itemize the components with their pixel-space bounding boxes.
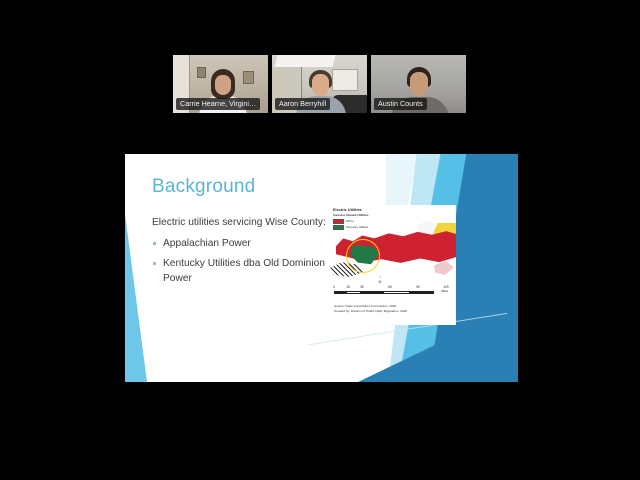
map-highlight-circle-icon — [346, 239, 380, 273]
shared-presentation-slide: Background Electric utilities servicing … — [125, 154, 518, 382]
slide-title: Background — [152, 176, 255, 198]
slide-bullet-label: Appalachian Power — [163, 238, 251, 249]
north-arrow-icon: ↑N — [376, 274, 384, 285]
scale-tick: 15 — [346, 285, 350, 289]
participant-name-label: Aaron Berryhill — [275, 98, 330, 111]
participant-name-label: Carrie Hearne, Virgini… — [176, 98, 260, 111]
bullet-marker-icon — [153, 242, 156, 245]
map-source-line: Source: State Corporation Commission, 20… — [334, 304, 407, 309]
map-legend-subtitle: Investor-Owned Utilities — [333, 213, 385, 218]
scale-tick: 90 — [416, 285, 420, 289]
participant-video-strip: Carrie Hearne, Virgini… Aaron Berryhill — [173, 55, 466, 113]
screen-recording-frame: Carrie Hearne, Virgini… Aaron Berryhill — [0, 0, 640, 480]
bullet-marker-icon — [153, 262, 156, 265]
utility-territory-map: Electric Utilities Investor-Owned Utilit… — [328, 205, 456, 325]
scale-tick: 30 — [360, 285, 364, 289]
scale-unit-label: Miles — [441, 289, 448, 293]
participant-tile[interactable]: Carrie Hearne, Virgini… — [173, 55, 268, 113]
scale-tick: 60 — [388, 285, 392, 289]
slide-intro-line: Electric utilities servicing Wise County… — [152, 216, 337, 230]
scale-bar-graphic — [334, 291, 434, 294]
slide-bullet-item: Kentucky Utilities dba Old Dominion Powe… — [152, 257, 337, 285]
participant-tile[interactable]: Aaron Berryhill — [272, 55, 367, 113]
slide-decoration-left-wedge — [125, 214, 147, 382]
map-source-line: Created by: Division of Public Utility R… — [334, 309, 407, 314]
map-scale-bar: ↑N 0 15 30 60 90 120 Miles — [334, 285, 446, 294]
scale-tick: 0 — [333, 285, 335, 289]
participant-name-label: Austin Counts — [374, 98, 427, 111]
slide-bullet-label: Kentucky Utilities dba Old Dominion Powe… — [163, 258, 325, 283]
map-scale-ticks: 0 15 30 60 90 120 — [334, 285, 446, 290]
slide-bullet-item: Appalachian Power — [152, 237, 337, 251]
slide-body-text: Electric utilities servicing Wise County… — [152, 216, 337, 292]
map-source-caption: Source: State Corporation Commission, 20… — [334, 304, 407, 313]
participant-tile[interactable]: Austin Counts — [371, 55, 466, 113]
map-graphic — [328, 219, 456, 277]
